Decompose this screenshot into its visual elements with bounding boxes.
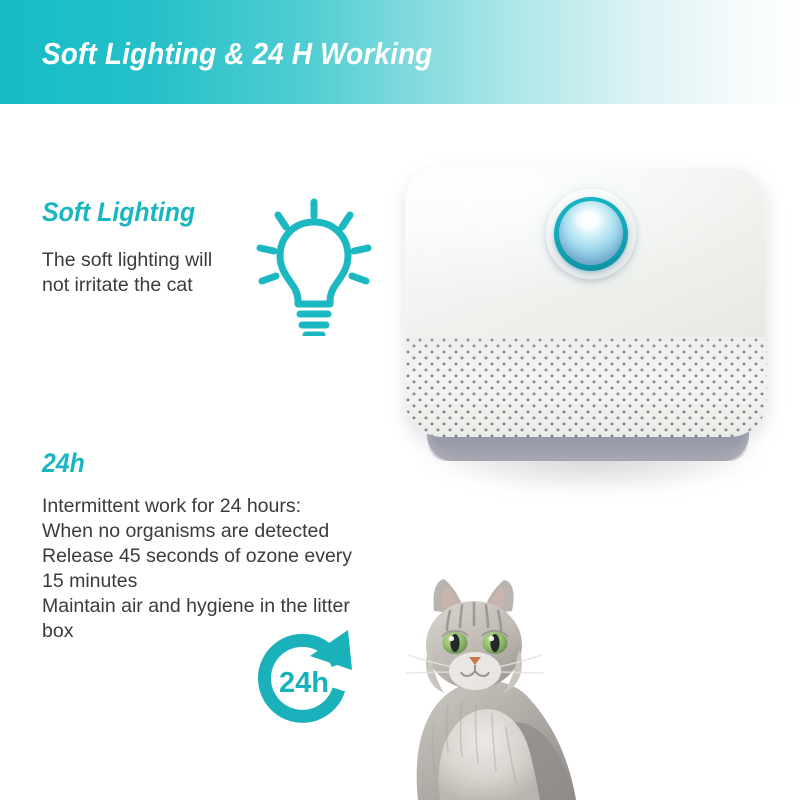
power-button-highlight	[573, 210, 603, 232]
clock-24h-icon-label: 24h	[279, 667, 329, 699]
clock-24h-icon: 24h	[252, 628, 356, 732]
section-body-24h: Intermittent work for 24 hours: When no …	[42, 494, 392, 644]
lightbulb-icon	[252, 196, 376, 336]
device-perforated-panel	[405, 337, 767, 437]
product-device	[405, 165, 775, 510]
section-heading-24h: 24h	[42, 448, 85, 479]
section-heading-soft-lighting: Soft Lighting	[42, 197, 195, 228]
cat-photo	[400, 575, 660, 800]
header-banner: Soft Lighting & 24 H Working	[0, 0, 800, 104]
page-title: Soft Lighting & 24 H Working	[42, 36, 432, 72]
